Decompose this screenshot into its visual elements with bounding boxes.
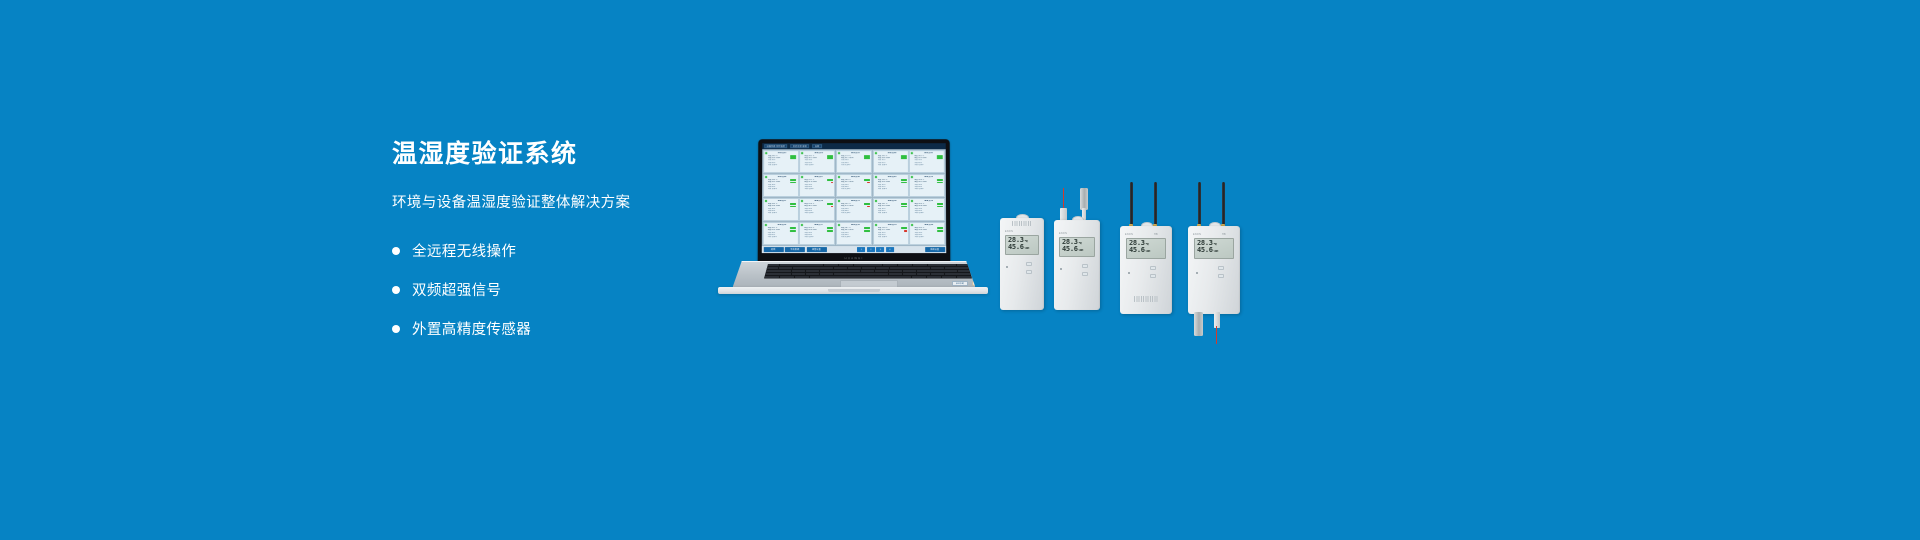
laptop-keyboard[interactable] xyxy=(764,264,972,279)
status-led-icon xyxy=(1006,266,1008,268)
device-brand-label: ENON xyxy=(1125,233,1133,236)
cell-detail-row: 上限 记录中 xyxy=(841,236,870,238)
cell-detail-label: 上限 记录中 xyxy=(767,236,777,238)
feature-label: 双频超强信号 xyxy=(412,279,501,300)
monitor-cell[interactable]: 验证点20温度 28.3 ℃湿度 45.6 %RH上限 30.0上限 60.0上… xyxy=(909,222,945,246)
cell-status-led-icon xyxy=(765,152,767,154)
monitor-cell[interactable]: 验证点06温度 28.4 ℃湿度 45.3 %RH上限 30.0上限 60.0上… xyxy=(763,174,799,197)
feature-item: 双频超强信号 xyxy=(392,277,722,303)
page-button-2[interactable]: 2 xyxy=(867,247,875,252)
device-model-label: HB xyxy=(1154,233,1158,236)
keyboard-row xyxy=(765,270,971,272)
device-lcd-display: 28.3 ℃ 45.6 %RH xyxy=(1005,235,1039,255)
external-sensor-probe xyxy=(1080,188,1088,210)
cell-detail-label: 上限 记录中 xyxy=(841,212,850,214)
cell-status-led-icon xyxy=(911,176,913,178)
status-led-icon xyxy=(1060,268,1062,270)
device-button-down[interactable] xyxy=(1218,274,1224,278)
antenna-icon xyxy=(1198,182,1201,226)
menu-item-history[interactable]: 历史记录 报表 xyxy=(791,144,810,148)
cell-detail-row: 上限 记录中 xyxy=(768,164,797,166)
cell-status-led-icon xyxy=(838,152,840,154)
cell-ok-badge xyxy=(827,203,833,205)
cell-detail-row: 上限 记录中 xyxy=(841,164,870,166)
menu-item-devices[interactable]: 设备列表 实时监控 xyxy=(764,144,787,148)
promo-banner: 温湿度验证系统 环境与设备温湿度验证整体解决方案 全远程无线操作 双频超强信号 … xyxy=(0,0,1920,540)
cell-status-led-icon xyxy=(875,200,877,202)
monitor-cell[interactable]: 验证点08温度 28.0 ℃湿度 45.5 %RH上限 30.0上限 60.0上… xyxy=(836,174,872,197)
monitor-cell[interactable]: 验证点15温度 28.3 ℃湿度 45.6 %RH上限 30.0上限 60.0上… xyxy=(909,198,945,222)
cell-ok-badge xyxy=(864,179,870,181)
cell-detail-label: 上限 记录中 xyxy=(841,236,851,238)
cell-detail-label: 上限 记录中 xyxy=(768,188,777,190)
page-button-1[interactable]: 1 xyxy=(857,247,865,252)
export-button[interactable]: 导出数据 xyxy=(785,247,805,252)
monitor-cell[interactable]: 验证点01温度 28.3 ℃湿度 45.6 %RH上限 30.0上限 60.0上… xyxy=(763,150,799,173)
device-lcd-display: 28.3 ℃ 45.6 %RH xyxy=(1194,238,1234,259)
antenna-icon xyxy=(1154,182,1157,226)
bullet-dot-icon xyxy=(392,286,400,294)
cell-detail-label: 上限 记录中 xyxy=(878,188,887,190)
device-button-up[interactable] xyxy=(1026,262,1032,266)
device-data-logger-external-probe: ENON 28.3 ℃ 45.6 %RH xyxy=(1054,210,1106,310)
system-settings-button[interactable]: 系统设置 xyxy=(925,247,945,252)
cell-ok-badge xyxy=(900,179,906,181)
monitor-cell[interactable]: 验证点07温度 29.1 ℃湿度 47.0 %RH上限 30.0上限 60.0上… xyxy=(799,174,835,197)
laptop-deck: 验证系统 xyxy=(732,261,976,289)
monitor-cell[interactable]: 验证点13温度 29.2 ℃湿度 47.6 %RH上限 30.0上限 60.0上… xyxy=(836,198,872,222)
cell-detail-row: 上限 记录中 xyxy=(914,236,943,238)
monitor-cell[interactable]: 验证点12温度 29.4 ℃湿度 48.1 %RH上限 30.0上限 60.0上… xyxy=(799,198,835,222)
cell-detail-label: 上限 记录中 xyxy=(841,164,850,166)
page-subtitle: 环境与设备温湿度验证整体解决方案 xyxy=(392,191,722,212)
monitor-cell[interactable]: 验证点16温度 28.2 ℃湿度 45.4 %RH上限 30.0上限 60.0上… xyxy=(762,222,798,246)
antenna-icon xyxy=(1222,182,1225,226)
cell-detail-row: 上限 记录中 xyxy=(804,164,833,166)
cell-detail-row: 上限 记录中 xyxy=(914,188,943,190)
cell-detail-row: 上限 记录中 xyxy=(914,212,943,214)
device-data-logger-basic: ENON 28.3 ℃ 45.6 %RH xyxy=(1000,218,1046,310)
laptop-base: 验证系统 xyxy=(718,261,988,297)
cell-status-led-icon xyxy=(911,200,913,202)
cell-ok-badge xyxy=(791,158,797,160)
cell-detail-label: 上限 记录中 xyxy=(914,212,923,214)
laptop-sticker: 验证系统 xyxy=(952,281,968,286)
cell-ok-badge xyxy=(937,230,943,232)
cell-ok-badge xyxy=(864,230,870,232)
page-button-4[interactable]: 4 xyxy=(886,247,894,252)
banner-copy: 温湿度验证系统 环境与设备温湿度验证整体解决方案 全远程无线操作 双频超强信号 … xyxy=(392,141,722,355)
cell-ok-badge xyxy=(937,179,943,181)
cell-ok-badge xyxy=(937,203,943,205)
software-toolbar: 刷新 导出数据 报警设置 1 2 3 4 系统设置 xyxy=(762,246,946,253)
cell-ok-badge xyxy=(901,203,907,205)
device-lcd-display: 28.3 ℃ 45.6 %RH xyxy=(1059,237,1095,257)
lcd-humidity-unit: %RH xyxy=(1078,249,1083,252)
cell-detail-row: 上限 记录中 xyxy=(804,212,833,214)
cell-detail-row: 上限 记录中 xyxy=(914,164,943,166)
bullet-dot-icon xyxy=(392,325,400,333)
cell-ok-badge xyxy=(827,227,833,229)
cell-ok-badge xyxy=(790,230,796,232)
cell-detail-label: 上限 记录中 xyxy=(914,188,923,190)
feature-item: 全远程无线操作 xyxy=(392,238,722,264)
cell-detail-label: 上限 记录中 xyxy=(914,164,923,166)
cell-ok-badge xyxy=(790,227,796,229)
device-brand-label: ENON xyxy=(1059,232,1067,235)
status-led-icon xyxy=(1128,272,1130,274)
monitor-cell[interactable]: 验证点05温度 28.2 ℃湿度 45.9 %RH上限 30.0上限 60.0上… xyxy=(909,150,945,173)
lcd-humidity-value: 45.6 xyxy=(1008,244,1024,251)
lcd-temperature-unit: ℃ xyxy=(1213,243,1216,246)
monitor-cell[interactable]: 验证点02温度 28.1 ℃湿度 46.2 %RH上限 30.0上限 60.0上… xyxy=(799,150,835,173)
device-brand-label: ENON xyxy=(1193,233,1201,236)
cell-status-led-icon xyxy=(801,224,803,226)
cell-status-led-icon xyxy=(765,200,767,202)
cell-detail-row: 上限 记录中 xyxy=(878,236,907,238)
lcd-humidity-value: 45.6 xyxy=(1129,247,1145,254)
device-data-logger-wireless: ENON HB 28.3 ℃ 45.6 %RH xyxy=(1120,192,1176,314)
keyboard-row xyxy=(765,273,971,275)
cell-detail-row: 上限 记录中 xyxy=(804,236,833,238)
feature-label: 全远程无线操作 xyxy=(412,240,516,261)
cell-status-led-icon xyxy=(838,224,840,226)
cell-status-led-icon xyxy=(875,152,877,154)
cell-ok-badge xyxy=(864,227,870,229)
external-sensor-probe xyxy=(1194,312,1203,336)
laptop-product-image: 设备列表 实时监控 历史记录 报表 设置 验证点01温度 28.3 ℃湿度 45… xyxy=(718,139,988,299)
lcd-humidity-unit: %RH xyxy=(1145,250,1150,253)
cell-status-led-icon xyxy=(801,152,803,154)
cell-detail-label: 上限 记录中 xyxy=(804,164,813,166)
page-title: 温湿度验证系统 xyxy=(392,141,722,169)
cell-status-led-icon xyxy=(838,200,840,202)
cell-status-led-icon xyxy=(875,224,877,226)
cell-detail-row: 上限 记录中 xyxy=(841,212,870,214)
device-lcd-display: 28.3 ℃ 45.6 %RH xyxy=(1126,238,1166,259)
cell-detail-row: 上限 记录中 xyxy=(841,188,870,190)
cell-detail-row: 上限 记录中 xyxy=(767,236,796,238)
lcd-humidity-line: 45.6 %RH xyxy=(1197,247,1231,254)
device-button-down[interactable] xyxy=(1026,270,1032,274)
cell-status-led-icon xyxy=(838,176,840,178)
cell-alarm-badge xyxy=(904,230,906,232)
cell-ok-badge xyxy=(864,203,870,205)
feature-item: 外置高精度传感器 xyxy=(392,316,722,342)
sensor-vent xyxy=(1012,221,1032,226)
laptop-open-notch xyxy=(828,289,880,292)
cell-detail-label: 上限 记录中 xyxy=(878,236,888,238)
refresh-button[interactable]: 刷新 xyxy=(763,247,783,252)
device-button-up[interactable] xyxy=(1082,264,1088,268)
cell-detail-label: 上限 记录中 xyxy=(804,236,814,238)
alarm-settings-button[interactable]: 报警设置 xyxy=(806,247,826,252)
laptop-lid: 设备列表 实时监控 历史记录 报表 设置 验证点01温度 28.3 ℃湿度 45… xyxy=(758,139,951,264)
device-model-label: HB xyxy=(1222,233,1226,236)
cell-ok-badge xyxy=(901,227,907,229)
cell-status-led-icon xyxy=(801,200,803,202)
lcd-humidity-line: 45.6 %RH xyxy=(1062,246,1092,253)
device-button-up[interactable] xyxy=(1218,266,1224,270)
lcd-humidity-value: 45.6 xyxy=(1197,247,1213,254)
cell-ok-badge xyxy=(900,158,906,160)
keyboard-row xyxy=(765,267,971,269)
cell-detail-row: 上限 记录中 xyxy=(878,164,907,166)
lcd-humidity-unit: %RH xyxy=(1024,247,1029,250)
monitor-cell[interactable]: 验证点03温度 27.9 ℃湿度 45.1 %RH上限 30.0上限 60.0上… xyxy=(836,150,872,173)
menu-item-settings[interactable]: 设置 xyxy=(812,144,821,148)
cell-ok-badge xyxy=(937,227,943,229)
sensor-vent xyxy=(1134,296,1158,302)
cell-status-led-icon xyxy=(764,224,766,226)
cell-detail-label: 上限 记录中 xyxy=(914,236,924,238)
cell-detail-row: 上限 记录中 xyxy=(768,188,797,190)
monitor-cell[interactable]: 验证点04温度 28.5 ℃湿度 44.8 %RH上限 30.0上限 60.0上… xyxy=(873,150,909,173)
lcd-temperature-unit: ℃ xyxy=(1078,242,1081,245)
lcd-humidity-value: 45.6 xyxy=(1062,246,1078,253)
laptop-screen: 设备列表 实时监控 历史记录 报表 设置 验证点01温度 28.3 ℃湿度 45… xyxy=(762,143,946,253)
monitor-cell[interactable]: 验证点10温度 28.6 ℃湿度 44.2 %RH上限 30.0上限 60.0上… xyxy=(909,174,945,197)
cell-ok-badge xyxy=(827,230,833,232)
cell-detail-label: 上限 记录中 xyxy=(768,164,777,166)
device-data-logger-wireless-probe: ENON HB 28.3 ℃ 45.6 %RH xyxy=(1188,192,1244,342)
lcd-humidity-line: 45.6 %RH xyxy=(1008,244,1036,251)
cell-ok-badge xyxy=(790,203,796,205)
lcd-temperature-unit: ℃ xyxy=(1024,240,1027,243)
monitor-cell[interactable]: 验证点09温度 28.3 ℃湿度 45.6 %RH上限 30.0上限 60.0上… xyxy=(873,174,909,197)
cell-ok-badge xyxy=(791,179,797,181)
lcd-humidity-unit: %RH xyxy=(1213,250,1218,253)
cell-detail-label: 上限 记录中 xyxy=(804,188,813,190)
cell-detail-label: 上限 记录中 xyxy=(841,188,850,190)
status-led-icon xyxy=(1196,272,1198,274)
cell-detail-row: 上限 记录中 xyxy=(878,188,907,190)
monitoring-grid: 验证点01温度 28.3 ℃湿度 45.6 %RH上限 30.0上限 60.0上… xyxy=(762,149,946,246)
cell-status-led-icon xyxy=(801,176,803,178)
cell-detail-label: 上限 记录中 xyxy=(878,212,887,214)
page-button-3[interactable]: 3 xyxy=(876,247,884,252)
device-button-down[interactable] xyxy=(1150,274,1156,278)
cell-ok-badge xyxy=(937,158,943,160)
device-button-up[interactable] xyxy=(1150,266,1156,270)
cell-ok-badge xyxy=(864,158,870,160)
cell-status-led-icon xyxy=(911,152,913,154)
cell-detail-label: 上限 记录中 xyxy=(804,212,813,214)
lcd-humidity-line: 45.6 %RH xyxy=(1129,247,1163,254)
monitor-cell[interactable]: 验证点14温度 28.1 ℃湿度 45.0 %RH上限 30.0上限 60.0上… xyxy=(873,198,909,222)
monitor-cell[interactable]: 验证点19温度 29.0 ℃湿度 47.2 %RH上限 30.0上限 60.0上… xyxy=(873,222,909,246)
device-brand-label: ENON xyxy=(1005,230,1013,233)
cell-status-led-icon xyxy=(911,224,913,226)
monitor-cell[interactable]: 验证点11温度 28.3 ℃湿度 45.6 %RH上限 30.0上限 60.0上… xyxy=(763,198,799,222)
lcd-temperature-unit: ℃ xyxy=(1145,243,1148,246)
cell-status-led-icon xyxy=(875,176,877,178)
cell-ok-badge xyxy=(827,158,833,160)
monitor-cell[interactable]: 验证点18温度 28.7 ℃湿度 46.3 %RH上限 30.0上限 60.0上… xyxy=(836,222,872,246)
cell-detail-label: 上限 记录中 xyxy=(878,164,887,166)
antenna-icon xyxy=(1130,182,1133,226)
device-button-down[interactable] xyxy=(1082,272,1088,276)
cell-detail-row: 上限 记录中 xyxy=(878,212,907,214)
monitor-cell[interactable]: 验证点17温度 28.3 ℃湿度 45.6 %RH上限 30.0上限 60.0上… xyxy=(799,222,835,246)
cell-status-led-icon xyxy=(765,176,767,178)
feature-label: 外置高精度传感器 xyxy=(412,318,531,339)
laptop-sticker-secondary xyxy=(972,281,985,286)
device-product-images: ENON 28.3 ℃ 45.6 %RH ENON xyxy=(1000,180,1240,320)
cell-detail-row: 上限 记录中 xyxy=(804,188,833,190)
keyboard-row xyxy=(765,264,971,266)
keyboard-row xyxy=(765,276,971,278)
probe-cable xyxy=(1216,326,1217,344)
feature-list: 全远程无线操作 双频超强信号 外置高精度传感器 xyxy=(392,238,722,342)
cell-detail-row: 上限 记录中 xyxy=(768,212,797,214)
cell-ok-badge xyxy=(827,179,833,181)
cell-detail-label: 上限 记录中 xyxy=(768,212,777,214)
bullet-dot-icon xyxy=(392,247,400,255)
